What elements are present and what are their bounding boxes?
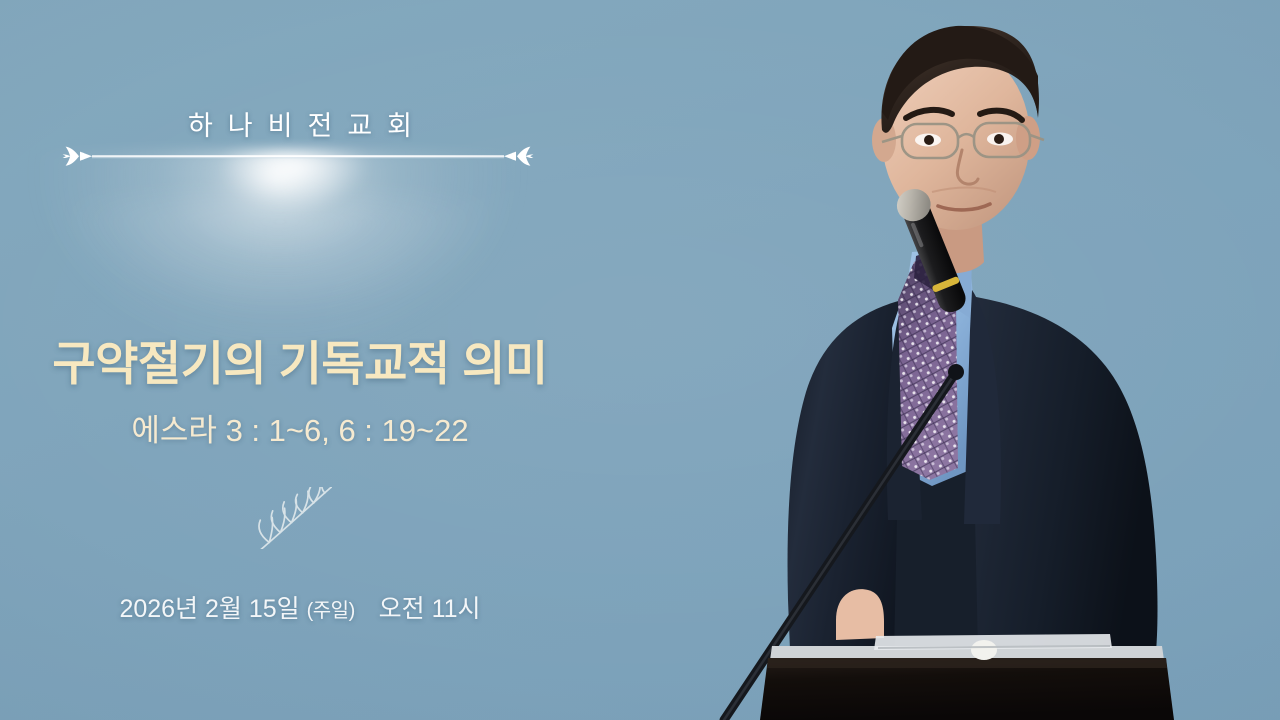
service-datetime: 2026년 2월 15일 (주일) 오전 11시	[0, 589, 600, 625]
fleur-right-icon	[504, 147, 533, 166]
scripture-reference: 에스라 3 : 1~6, 6 : 19~22	[0, 405, 600, 450]
speaker-photo	[640, 0, 1280, 720]
service-time: 오전 11시	[379, 595, 481, 623]
sermon-title-slide: 하나비전교회	[0, 0, 1280, 720]
fleur-left-icon	[63, 147, 92, 166]
service-date: 2026년 2월 15일	[119, 595, 299, 623]
olive-branch-icon	[240, 487, 350, 549]
church-name: 하나비전교회	[0, 104, 600, 143]
cable-clip	[971, 640, 997, 660]
service-day-of-week: (주일)	[307, 600, 355, 622]
sermon-title: 구약절기의 기독교적 의미	[0, 325, 600, 394]
fleur-de-lis-divider	[62, 142, 534, 172]
